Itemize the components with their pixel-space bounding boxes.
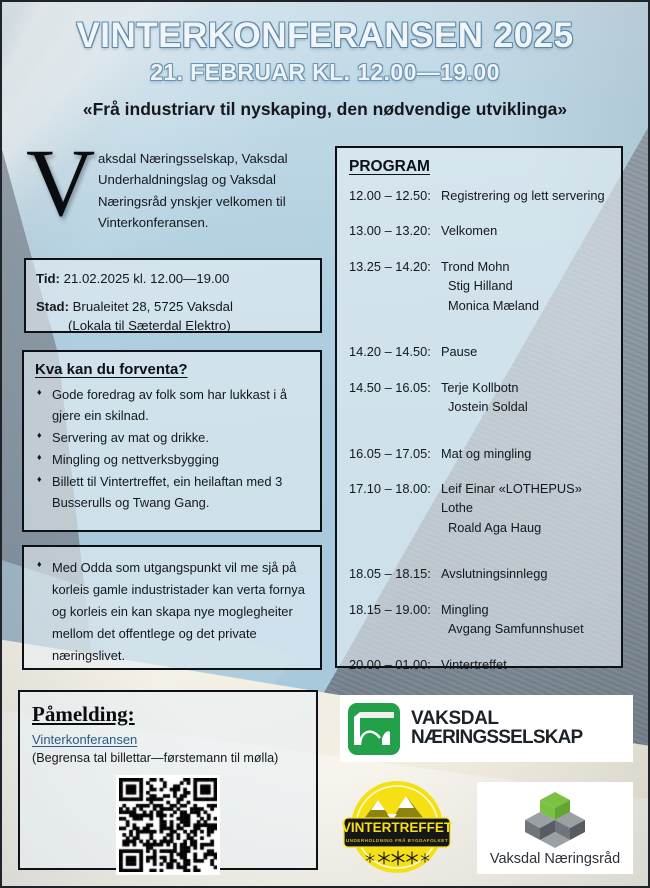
program-row: 20.00 – 01.00:Vintertreffet xyxy=(349,655,611,674)
cube-icon xyxy=(522,790,588,848)
expectations-list: Gode foredrag av folk som har lukkast i … xyxy=(35,385,309,513)
list-item: Gode foredrag av folk som har lukkast i … xyxy=(35,385,309,427)
expectations-box: Kva kan du forventa? Gode foredrag av fo… xyxy=(22,350,322,532)
program-description: Pause xyxy=(441,342,611,361)
program-description: Trond Mohn xyxy=(441,257,611,276)
program-speaker: Monica Mæland xyxy=(349,296,611,315)
program-time: 16.05 – 17.05: xyxy=(349,444,441,463)
event-place-extra: (Lokala til Sæterdal Elektro) xyxy=(36,316,310,335)
program-time: 18.05 – 18.15: xyxy=(349,564,441,583)
registration-title: Påmelding: xyxy=(32,702,304,727)
qr-code-image xyxy=(119,778,217,872)
program-description: Vintertreffet xyxy=(441,655,611,674)
program-title: PROGRAM xyxy=(349,158,611,176)
program-row: 13.25 – 14.20:Trond Mohn xyxy=(349,257,611,276)
logo-vnr-label: Vaksdal Næringsråd xyxy=(490,851,620,867)
program-row: 17.10 – 18.00:Leif Einar «LOTHEPUS» Loth… xyxy=(349,479,611,518)
program-time: 13.25 – 14.20: xyxy=(349,257,441,276)
registration-note: (Begrensa tal billettar—førstemann til m… xyxy=(32,750,304,768)
page-tagline: «Frå industriarv til nyskaping, den nødv… xyxy=(0,99,650,120)
program-list: 12.00 – 12.50:Registrering og lett serve… xyxy=(349,186,611,674)
program-description: Mat og mingling xyxy=(441,444,611,463)
program-item: 13.25 – 14.20:Trond MohnStig HillandMoni… xyxy=(349,257,611,315)
program-item: 14.20 – 14.50:Pause xyxy=(349,342,611,361)
program-item: 18.05 – 18.15:Avslutningsinnlegg xyxy=(349,564,611,583)
poster-header: VINTERKONFERANSEN 2025 21. FEBRUAR KL. 1… xyxy=(0,0,650,130)
program-row: 12.00 – 12.50:Registrering og lett serve… xyxy=(349,186,611,205)
drop-cap: V xyxy=(26,144,95,223)
list-item: Servering av mat og drikke. xyxy=(35,428,309,449)
page-subtitle: 21. FEBRUAR KL. 12.00—19.00 xyxy=(0,59,650,86)
program-time: 14.50 – 16.05: xyxy=(349,378,441,397)
conference-poster: VINTERKONFERANSEN 2025 21. FEBRUAR KL. 1… xyxy=(0,0,650,888)
program-item: 14.50 – 16.05:Terje KollbotnJostein Sold… xyxy=(349,378,611,417)
program-description: Registrering og lett servering xyxy=(441,186,611,205)
logo-vns-line2: NÆRINGSSELSKAP xyxy=(411,729,582,747)
program-row: 14.50 – 16.05:Terje Kollbotn xyxy=(349,378,611,397)
registration-link[interactable]: Vinterkonferansen xyxy=(32,732,137,747)
program-speaker: Avgang Samfunnshuset xyxy=(349,619,611,638)
odda-box: Med Odda som utgangspunkt vil me sjå på … xyxy=(22,545,322,670)
event-time-label: Tid: xyxy=(36,271,60,286)
qr-code[interactable] xyxy=(116,775,220,875)
logo-vaksdal-naeringsrad: Vaksdal Næringsråd xyxy=(477,782,633,874)
registration-box: Påmelding: Vinterkonferansen (Begrensa t… xyxy=(18,690,318,870)
program-time: 18.15 – 19.00: xyxy=(349,600,441,619)
program-time: 13.00 – 13.20: xyxy=(349,221,441,240)
program-item: 13.00 – 13.20:Velkomen xyxy=(349,221,611,240)
event-place-value: Brualeitet 28, 5725 Vaksdal xyxy=(73,299,233,314)
program-speaker: Stig Hilland xyxy=(349,276,611,295)
event-time-line: Tid: 21.02.2025 kl. 12.00—19.00 xyxy=(36,269,310,288)
program-description: Terje Kollbotn xyxy=(441,378,611,397)
list-item: Med Odda som utgangspunkt vil me sjå på … xyxy=(35,557,309,667)
program-row: 13.00 – 13.20:Velkomen xyxy=(349,221,611,240)
event-details-box: Tid: 21.02.2025 kl. 12.00—19.00 Stad: Br… xyxy=(24,258,322,333)
program-speaker: Roald Aga Haug xyxy=(349,518,611,537)
event-time-value: 21.02.2025 kl. 12.00—19.00 xyxy=(64,271,230,286)
program-item: 12.00 – 12.50:Registrering og lett serve… xyxy=(349,186,611,205)
program-item: 16.05 – 17.05:Mat og mingling xyxy=(349,444,611,463)
program-row: 16.05 – 17.05:Mat og mingling xyxy=(349,444,611,463)
program-item: 18.15 – 19.00:MinglingAvgang Samfunnshus… xyxy=(349,600,611,639)
program-speaker: Jostein Soldal xyxy=(349,397,611,416)
bridge-icon xyxy=(348,703,400,755)
event-place-line: Stad: Brualeitet 28, 5725 Vaksdal xyxy=(36,297,310,316)
logo-vns-text: VAKSDAL NÆRINGSSELSKAP xyxy=(411,710,582,746)
program-time: 12.00 – 12.50: xyxy=(349,186,441,205)
logo-vaksdal-naeringsselskap: VAKSDAL NÆRINGSSELSKAP xyxy=(340,695,633,762)
logo-vns-line1: VAKSDAL xyxy=(411,710,582,728)
program-item: 20.00 – 01.00:Vintertreffet xyxy=(349,655,611,674)
logo-vintertreffet: VINTERTREFFET UNDERHOLDNING FRÅ BYGDAFOL… xyxy=(336,778,458,876)
program-box: PROGRAM 12.00 – 12.50:Registrering og le… xyxy=(335,146,623,668)
expectations-title: Kva kan du forventa? xyxy=(35,361,309,378)
logo-vintertreffet-subtitle: UNDERHOLDNING FRÅ BYGDAFOLKET xyxy=(346,837,448,843)
list-item: Billett til Vintertreffet, ein heilaftan… xyxy=(35,472,309,514)
page-title: VINTERKONFERANSEN 2025 xyxy=(0,16,650,56)
event-place-label: Stad: xyxy=(36,299,69,314)
program-description: Leif Einar «LOTHEPUS» Lothe xyxy=(441,479,611,518)
program-description: Velkomen xyxy=(441,221,611,240)
program-item: 17.10 – 18.00:Leif Einar «LOTHEPUS» Loth… xyxy=(349,479,611,537)
program-time: 17.10 – 18.00: xyxy=(349,479,441,518)
program-row: 18.05 – 18.15:Avslutningsinnlegg xyxy=(349,564,611,583)
program-description: Avslutningsinnlegg xyxy=(441,564,611,583)
odda-list: Med Odda som utgangspunkt vil me sjå på … xyxy=(35,557,309,667)
welcome-block: V aksdal Næringsselskap, Vaksdal Underha… xyxy=(26,148,322,258)
program-time: 20.00 – 01.00: xyxy=(349,655,441,674)
program-row: 18.15 – 19.00:Mingling xyxy=(349,600,611,619)
logo-vintertreffet-title: VINTERTREFFET xyxy=(342,820,453,835)
program-description: Mingling xyxy=(441,600,611,619)
program-row: 14.20 – 14.50:Pause xyxy=(349,342,611,361)
list-item: Mingling og nettverksbygging xyxy=(35,450,309,471)
program-time: 14.20 – 14.50: xyxy=(349,342,441,361)
